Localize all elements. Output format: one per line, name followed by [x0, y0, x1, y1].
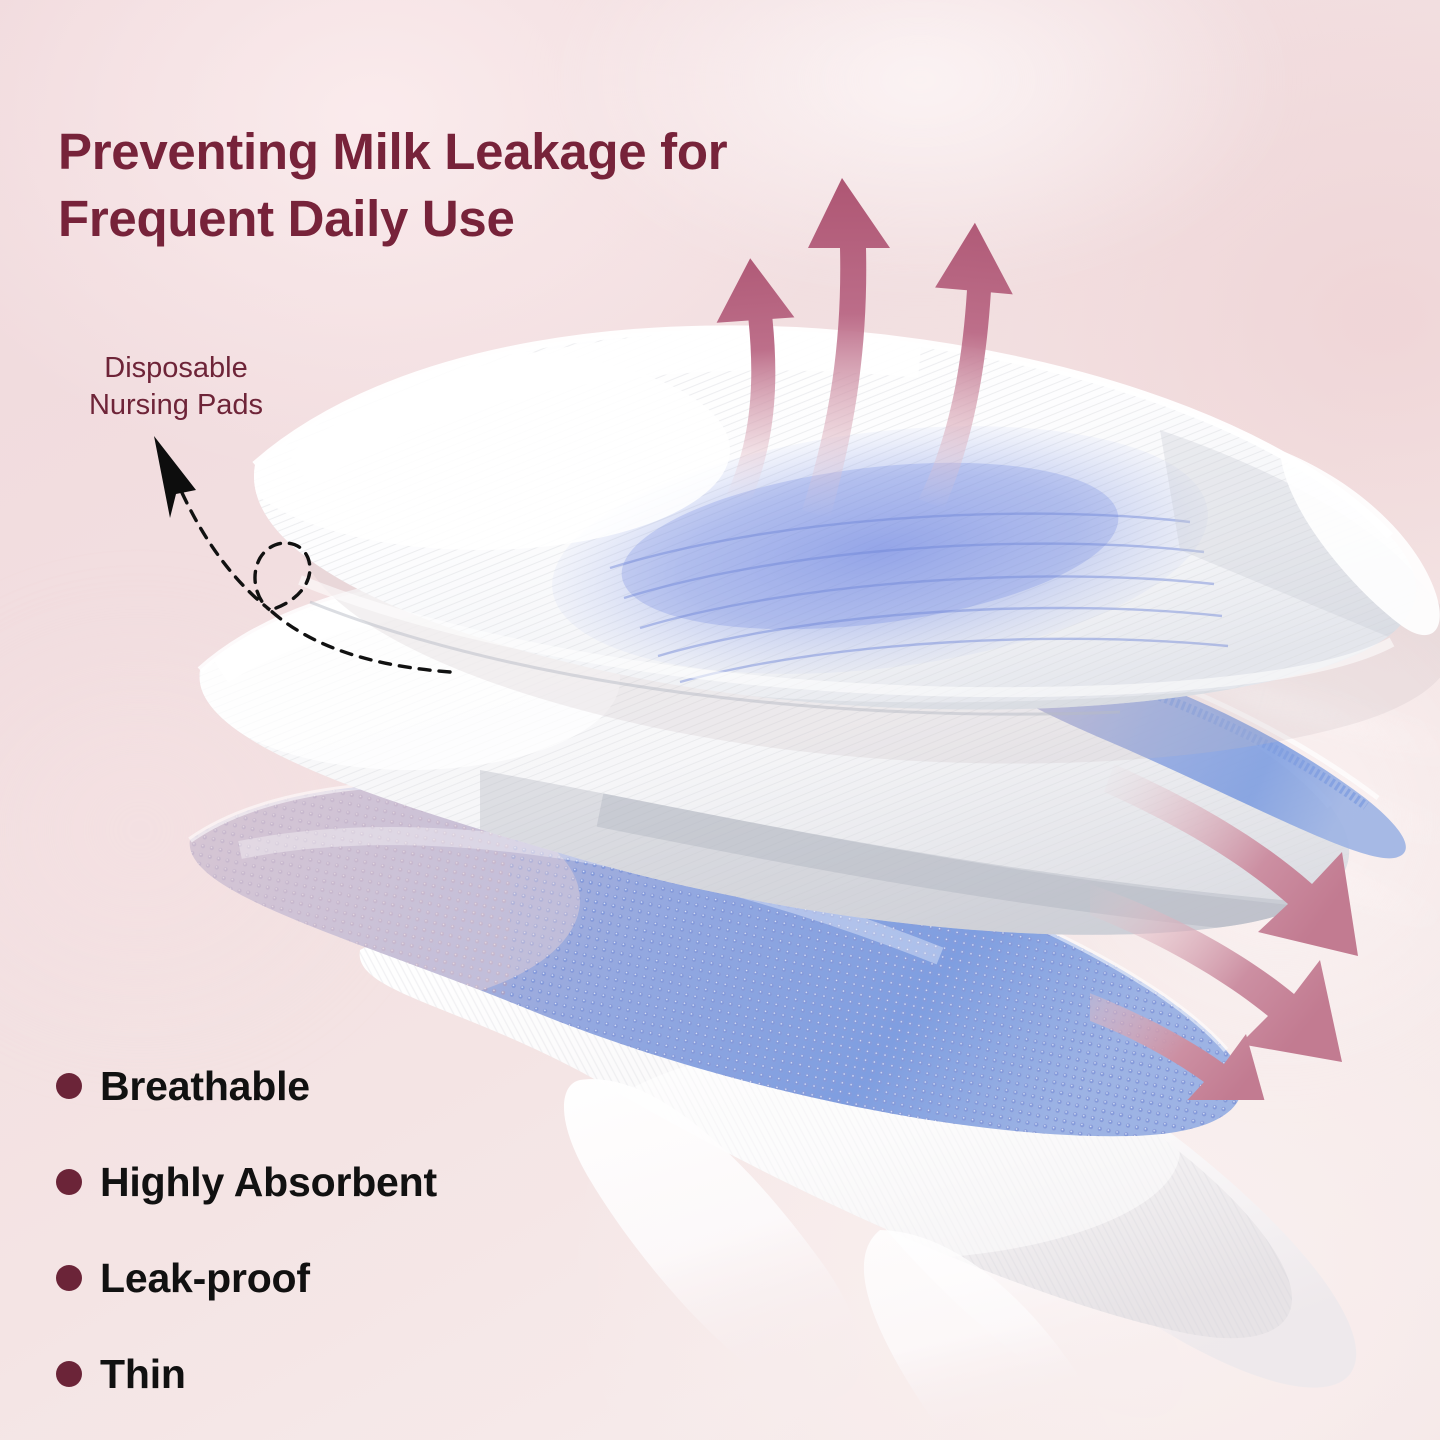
- bullet-dot-icon: [56, 1169, 82, 1195]
- feature-list: Breathable Highly Absorbent Leak-proof T…: [56, 1038, 576, 1422]
- arrow-down-right-icon: [1090, 884, 1342, 1062]
- list-item: Breathable: [56, 1038, 576, 1134]
- moisture-down-arrows: [1090, 760, 1440, 1100]
- arrow-down-right-icon: [1104, 764, 1358, 956]
- list-item: Highly Absorbent: [56, 1134, 576, 1230]
- pad-gel-edge-strip: [939, 618, 1406, 858]
- pad-layer-rear-sliver: [1280, 450, 1440, 635]
- background-light-ray: [1116, 712, 1440, 850]
- product-callout-label: Disposable Nursing Pads: [46, 350, 306, 424]
- absorbent-blue-zone: [538, 393, 1222, 708]
- dashed-curve-arrow-icon: [120, 420, 500, 690]
- list-item: Thin: [56, 1326, 576, 1422]
- page-title: Preventing Milk Leakage for Frequent Dai…: [58, 118, 918, 253]
- product-callout-line-1: Disposable: [46, 350, 306, 387]
- arrow-up-icon: [916, 220, 1019, 514]
- background-light-ray: [1148, 797, 1440, 934]
- background-haze-left: [0, 600, 400, 1060]
- pad-layer-top: [180, 290, 1440, 764]
- background-haze-right: [1020, 560, 1440, 1080]
- feature-label: Leak-proof: [100, 1255, 310, 1302]
- feature-label: Breathable: [100, 1063, 310, 1110]
- arrow-up-icon: [710, 255, 807, 502]
- background-light-ray: [1084, 635, 1440, 770]
- product-callout-line-2: Nursing Pads: [46, 387, 306, 424]
- page-title-line-1: Preventing Milk Leakage for: [58, 118, 918, 185]
- bullet-dot-icon: [56, 1265, 82, 1291]
- arrow-down-right-icon: [1090, 976, 1270, 1100]
- bullet-dot-icon: [56, 1361, 82, 1387]
- feature-label: Thin: [100, 1351, 186, 1398]
- feature-label: Highly Absorbent: [100, 1159, 437, 1206]
- pad-layer-middle: [180, 530, 1440, 970]
- list-item: Leak-proof: [56, 1230, 576, 1326]
- bullet-dot-icon: [56, 1073, 82, 1099]
- page-title-line-2: Frequent Daily Use: [58, 185, 918, 252]
- pad-layer-backing: [700, 982, 1356, 1419]
- infographic-canvas: Preventing Milk Leakage for Frequent Dai…: [0, 0, 1440, 1440]
